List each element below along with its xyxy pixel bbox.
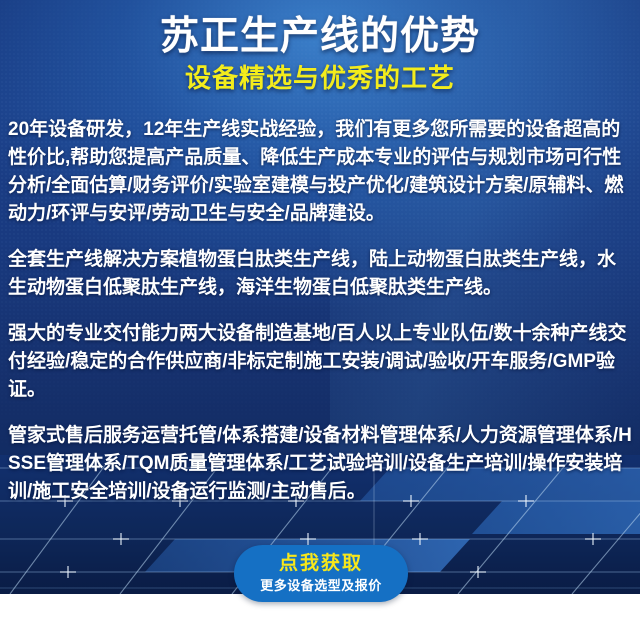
body-paragraph: 20年设备研发，12年生产线实战经验，我们有更多您所需要的设备超高的性价比,帮助… <box>8 116 634 228</box>
page-title: 苏正生产线的优势 <box>0 14 640 60</box>
body-copy: 20年设备研发，12年生产线实战经验，我们有更多您所需要的设备超高的性价比,帮助… <box>8 116 634 506</box>
cta-button[interactable]: 点我获取 更多设备选型及报价 <box>234 545 408 602</box>
body-paragraph: 管家式售后服务运营托管/体系搭建/设备材料管理体系/人力资源管理体系/HSSE管… <box>8 422 634 506</box>
cta-main-label: 点我获取 <box>279 553 363 575</box>
body-paragraph: 全套生产线解决方案植物蛋白肽类生产线，陆上动物蛋白肽类生产线，水生动物蛋白低聚肽… <box>8 246 634 302</box>
promo-poster: VJsH 苏正生产线的优势 设备精选与优秀的工艺 20年设备研发，12年生产线实… <box>0 0 640 631</box>
page-subtitle: 设备精选与优秀的工艺 <box>0 62 640 94</box>
body-paragraph: 强大的专业交付能力两大设备制造基地/百人以上专业队伍/数十余种产线交付经验/稳定… <box>8 320 634 404</box>
cta-sub-label: 更多设备选型及报价 <box>260 577 382 595</box>
